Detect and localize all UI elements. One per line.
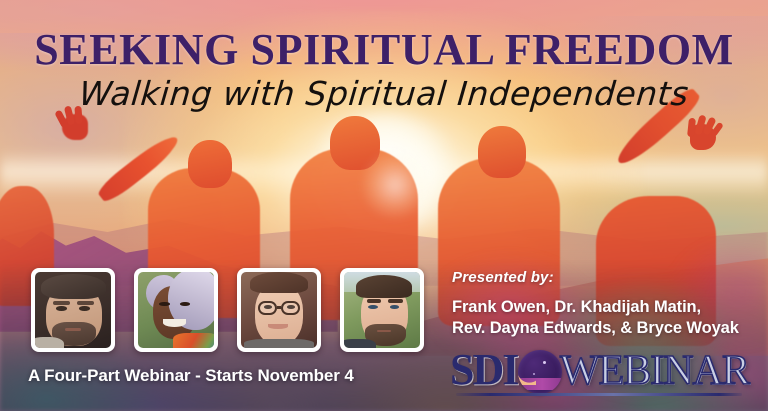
portrait-frank-owen <box>35 272 111 348</box>
portrait-bryce-woyak <box>344 272 420 348</box>
portrait-shoulder <box>35 337 64 348</box>
silhouette-head-4 <box>478 126 526 178</box>
emblem-star-icon <box>543 361 546 364</box>
portrait-hair <box>356 275 412 298</box>
portrait-dayna-edwards <box>241 272 317 348</box>
portrait-clothing <box>244 339 314 348</box>
portrait-glasses-bridge <box>277 306 282 309</box>
presenter-names-line-2: Rev. Dayna Edwards, & Bryce Woyak <box>452 318 739 339</box>
portrait-eyebrow <box>367 299 381 302</box>
presented-by-label: Presented by: <box>452 269 554 286</box>
portrait-mouth <box>65 328 80 331</box>
webinar-promo-poster: SEEKING SPIRITUAL FREEDOM Walking with S… <box>0 0 768 411</box>
poster-subtitle: Walking with Spiritual Independents <box>0 74 768 113</box>
presenter-photo-3 <box>237 268 321 352</box>
sdi-webinar-logo: SDI WEBINAR <box>450 348 750 400</box>
lens-flare <box>360 150 430 220</box>
portrait-scarf <box>173 333 214 348</box>
webinar-tagline: A Four-Part Webinar - Starts November 4 <box>28 366 354 386</box>
portrait-smile <box>268 324 288 329</box>
poster-title: SEEKING SPIRITUAL FREEDOM <box>0 24 768 75</box>
sdi-dome-emblem-icon <box>518 350 562 394</box>
portrait-eye <box>390 305 400 309</box>
sdi-wordmark: SDI <box>450 348 517 392</box>
portrait-eyebrow <box>53 301 70 305</box>
portrait-hair <box>41 274 106 300</box>
portrait-eye <box>79 306 90 311</box>
presenter-photo-2 <box>134 268 218 352</box>
emblem-notch <box>518 369 536 385</box>
logo-underline-rule <box>456 393 742 396</box>
portrait-eyebrow <box>388 299 402 302</box>
presenter-photo-1 <box>31 268 115 352</box>
portrait-clothing <box>344 339 376 348</box>
webinar-wordmark: WEBINAR <box>560 350 749 392</box>
portrait-eyebrow <box>77 301 94 305</box>
portrait-mouth <box>377 330 391 333</box>
silhouette-head-2 <box>188 140 232 188</box>
portrait-glasses-lens <box>281 301 301 315</box>
presenter-names-line-1: Frank Owen, Dr. Khadijah Matin, <box>452 297 739 318</box>
portrait-hair <box>250 272 308 293</box>
portrait-eye <box>368 305 378 309</box>
portrait-khadijah-matin <box>138 272 214 348</box>
portrait-eye <box>56 306 67 311</box>
presenter-photo-4 <box>340 268 424 352</box>
portrait-glasses-lens <box>258 301 278 315</box>
presenter-names: Frank Owen, Dr. Khadijah Matin, Rev. Day… <box>452 297 739 339</box>
